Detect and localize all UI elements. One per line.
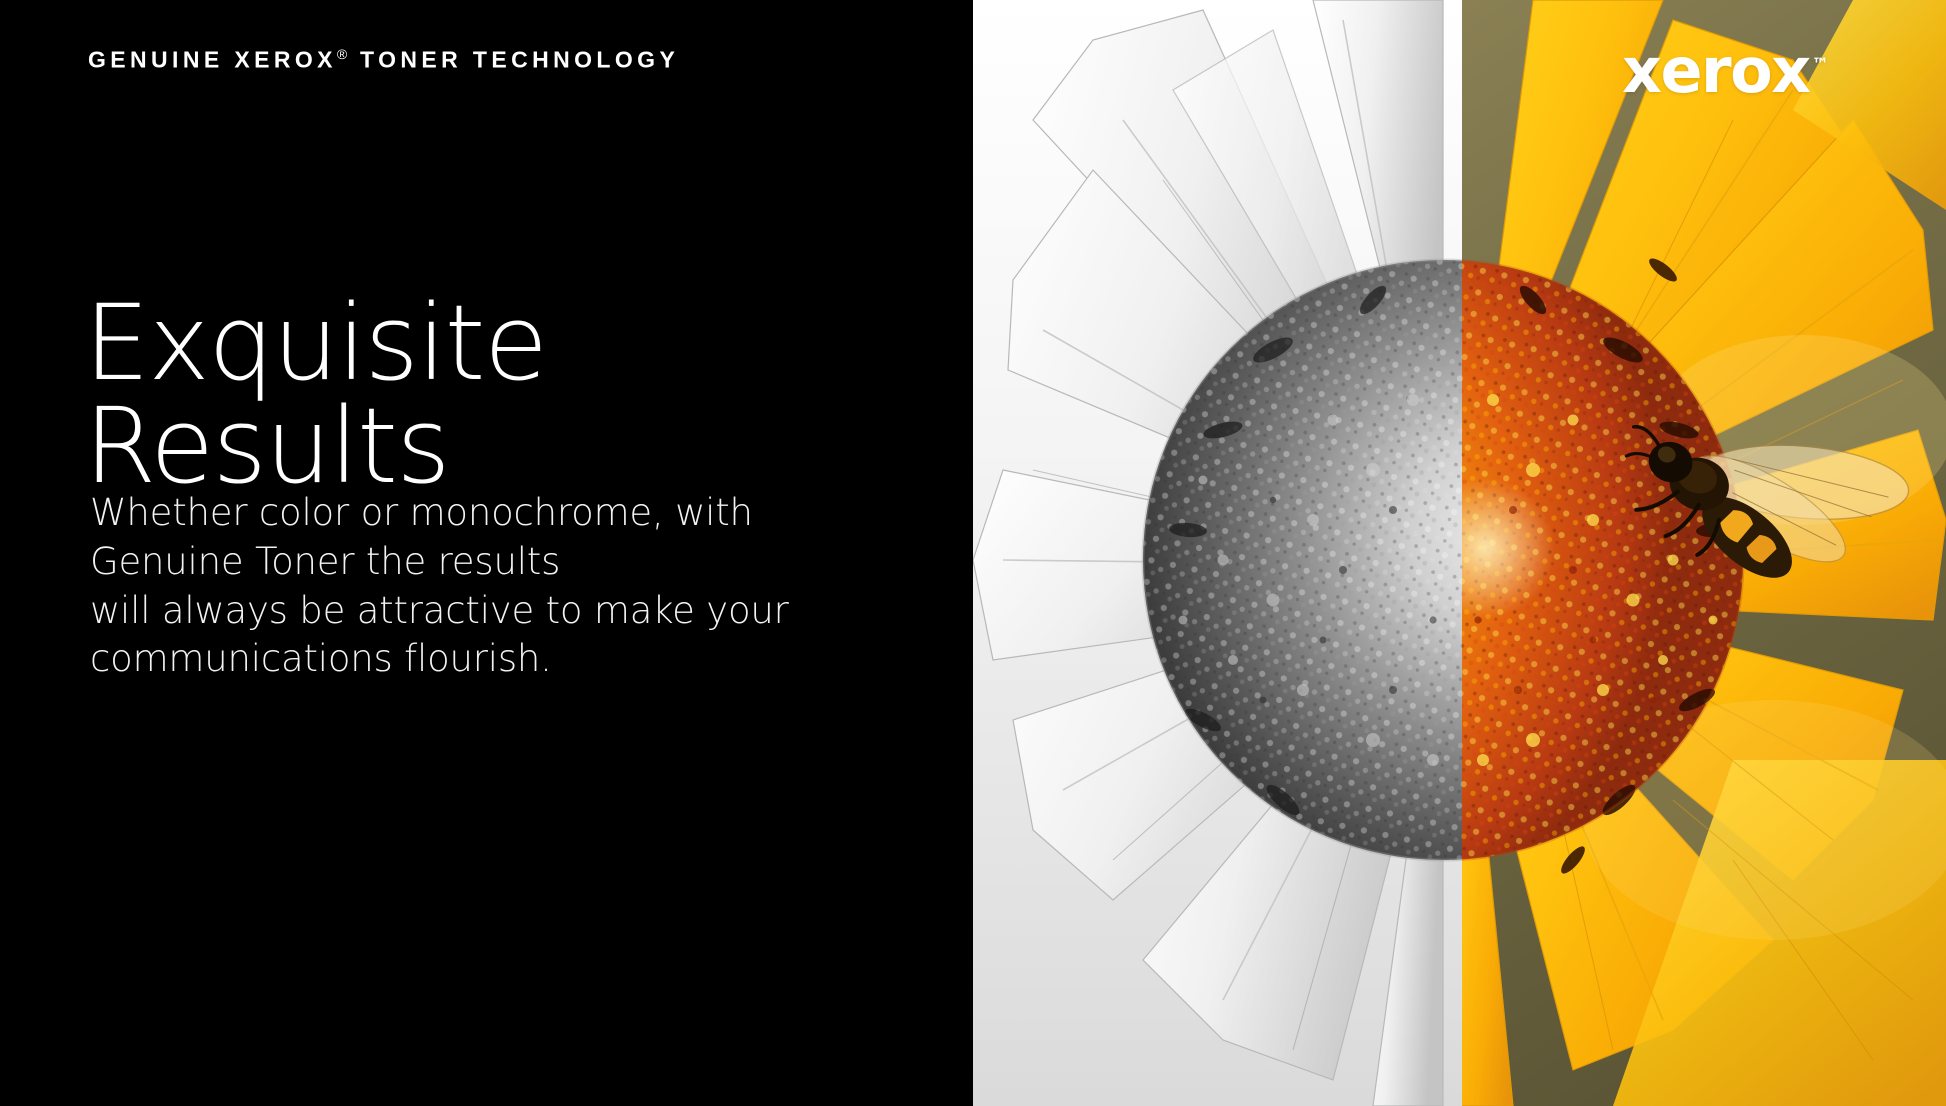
sunflower-illustration [973,0,1946,1106]
sunflower-photo [973,0,1946,1106]
registered-mark: ® [337,46,349,62]
page-title: Exquisite Results [84,292,546,498]
slide-canvas: GENUINE XEROX® TONER TECHNOLOGY Exquisit… [0,0,1946,1106]
trademark-icon: ™ [1812,55,1829,75]
eyebrow-text-after: TONER TECHNOLOGY [360,47,679,73]
xerox-wordmark: xerox [1622,34,1810,107]
xerox-logo: xerox™ [1622,40,1829,102]
body-copy: Whether color or monochrome, with Genuin… [90,489,789,684]
content-panel: GENUINE XEROX® TONER TECHNOLOGY Exquisit… [0,0,973,1106]
eyebrow-kicker: GENUINE XEROX® TONER TECHNOLOGY [88,47,679,72]
eyebrow-spacer [349,47,360,73]
eyebrow-text-before: GENUINE XEROX [88,47,337,73]
